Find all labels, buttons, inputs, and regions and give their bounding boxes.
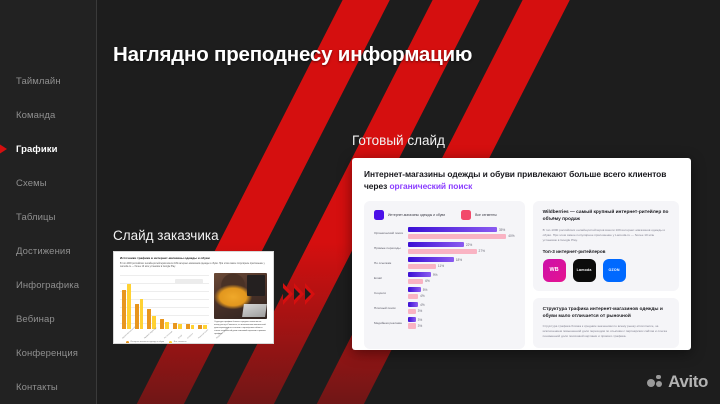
bar-fill [408, 302, 418, 307]
bar: 27% [408, 249, 515, 254]
legend-label: Все сегменты [475, 213, 497, 218]
sidebar-item-label: Контакты [16, 382, 58, 393]
bar-value-label: 9% [433, 273, 438, 277]
sidebar-item-8[interactable]: Конференция [0, 336, 96, 370]
triple-chevron-right-icon [283, 283, 315, 305]
bar-value-label: 4% [420, 303, 425, 307]
bar-value-label: 40% [508, 234, 514, 238]
bar [147, 309, 151, 329]
customer-slide-caption: Слайд заказчика [113, 228, 219, 243]
sidebar-item-label: Графики [16, 144, 58, 155]
ready-slide-title: Интернет-магазины одежды и обуви привлек… [364, 169, 679, 192]
bar-fill [408, 317, 416, 322]
bar-fill [408, 272, 431, 277]
bar [173, 323, 177, 329]
avito-wordmark: Avito [668, 372, 708, 392]
sidebar-item-label: Вебинар [16, 314, 55, 325]
bar-fill [408, 257, 454, 262]
x-tick-label: Прямые переходы [144, 327, 157, 339]
bar: 4% [408, 294, 515, 299]
bar: 3% [408, 323, 515, 328]
card-body: В топ-1000 российских онлайн-ритейлеров … [543, 228, 669, 243]
category-label: Органический поиск [374, 231, 404, 235]
chevron-right-icon [283, 283, 293, 305]
bar-group [198, 279, 207, 329]
retailer-logos: WBLamodaOZON [543, 259, 669, 282]
chart-row: Органический поиск35%40% [374, 227, 515, 239]
sidebar-item-label: Схемы [16, 178, 47, 189]
legend-swatch [461, 210, 471, 220]
chart-legend: Интернет-магазины одежды и обувиВсе сегм… [374, 210, 515, 220]
sidebar-item-0[interactable]: Таймлайн [0, 64, 96, 98]
bar [191, 325, 195, 328]
category-label: Соцсети [374, 291, 404, 295]
legend-swatch [169, 341, 172, 344]
chart-bar-groups [122, 279, 207, 329]
bar-value-label: 5% [423, 288, 428, 292]
bar-fill [408, 249, 477, 254]
ozon-logo: OZON [603, 259, 626, 282]
bar-fill [408, 287, 421, 292]
chart-row: По ссылкам18%11% [374, 257, 515, 269]
bar-value-label: 27% [479, 249, 485, 253]
chart-legend: Интернет-магазины одежды и обувиВсе сегм… [126, 341, 186, 344]
bar: 5% [408, 287, 515, 292]
sidebar-item-1[interactable]: Команда [0, 98, 96, 132]
bar [178, 324, 182, 328]
bar-group [135, 279, 144, 329]
card-heading: Структура трафика интернет-магазинов оде… [543, 307, 669, 321]
sidebar-item-label: Достижения [16, 246, 71, 257]
traffic-structure-card: Структура трафика интернет-магазинов оде… [533, 298, 679, 349]
bar [198, 325, 202, 328]
category-label: Платный поиск [374, 306, 404, 310]
bar [135, 304, 139, 328]
bar-fill [408, 242, 464, 247]
sidebar-item-9[interactable]: Контакты [0, 370, 96, 404]
legend-item: Все сегменты [169, 341, 186, 344]
legend-label: Все сегменты [174, 341, 187, 343]
bar: 4% [408, 302, 515, 307]
category-label: Прямые переходы [374, 246, 404, 250]
bar-value-label: 11% [438, 264, 444, 268]
legend-item: Интернет-магазины одежды и обуви [126, 341, 164, 344]
bar: 22% [408, 242, 515, 247]
bar-value-label: 3% [418, 318, 423, 322]
chart-row: Медийная реклама3%3% [374, 317, 515, 329]
category-label: Email [374, 276, 404, 280]
bar-value-label: 6% [425, 279, 430, 283]
bar [160, 319, 164, 329]
customer-slide-subtitle: В топ-1000 российских онлайн-ритейлеров … [120, 263, 267, 270]
bar: 18% [408, 257, 515, 262]
bar-value-label: 35% [499, 228, 505, 232]
x-tick-label: Соцсети [187, 333, 194, 339]
bar-group [173, 279, 182, 329]
legend-label: Интернет-магазины одежды и обуви [131, 341, 165, 343]
sidebar-item-label: Команда [16, 110, 55, 121]
bar-group [122, 279, 131, 329]
bar [140, 299, 144, 329]
legend-label: Интернет-магазины одежды и обуви [388, 213, 445, 218]
bar: 9% [408, 272, 515, 277]
bar: 40% [408, 234, 515, 239]
legend-swatch [374, 210, 384, 220]
sidebar-item-5[interactable]: Достижения [0, 234, 96, 268]
ready-slide-title-accent: органический поиск [389, 181, 472, 191]
wildberries-info-card: Wildberries — самый крупный интернет-рит… [533, 201, 679, 291]
legend-swatch [126, 341, 129, 344]
bar [186, 324, 190, 328]
bar: 3% [408, 309, 515, 314]
bar-group [160, 279, 169, 329]
bar-value-label: 18% [456, 258, 462, 262]
ready-slide-chart-card: Интернет-магазины одежды и обувиВсе сегм… [364, 201, 525, 349]
customer-slide-photo [214, 273, 267, 319]
bar-fill [408, 294, 418, 299]
customer-slide-title: Источники трафика в интернет-магазины од… [120, 257, 267, 261]
bar [122, 290, 126, 329]
sidebar-item-3[interactable]: Схемы [0, 166, 96, 200]
sidebar-item-4[interactable]: Таблицы [0, 200, 96, 234]
sidebar-item-label: Таймлайн [16, 76, 61, 87]
active-pointer-icon [0, 142, 7, 156]
x-tick-label: Платный поиск [198, 329, 209, 339]
card-heading: Wildberries — самый крупный интернет-рит… [543, 210, 669, 224]
bar-value-label: 22% [466, 243, 472, 247]
bar-value-label: 4% [420, 294, 425, 298]
avito-dot [647, 379, 655, 387]
bar-fill [408, 234, 506, 239]
bar-fill [408, 309, 416, 314]
chart-row: Соцсети5%4% [374, 287, 515, 299]
category-label: Медийная реклама [374, 321, 404, 325]
card-body: Структура трафика близка к средним значе… [543, 324, 669, 339]
bar-fill [408, 264, 436, 269]
bar-fill [408, 323, 416, 328]
ready-slide-caption: Готовый слайд [352, 133, 445, 148]
bar [127, 284, 131, 328]
bar: 35% [408, 227, 515, 232]
chevron-right-icon [305, 283, 315, 305]
avito-dot [656, 381, 662, 387]
sidebar-item-2[interactable]: Графики [0, 132, 96, 166]
legend-item: Интернет-магазины одежды и обуви [374, 210, 445, 220]
chart-row: Email9%6% [374, 272, 515, 284]
avito-logo: Avito [647, 372, 708, 392]
customer-slide[interactable]: Источники трафика в интернет-магазины од… [113, 251, 274, 344]
sidebar-item-label: Таблицы [16, 212, 56, 223]
wildberries-logo: WB [543, 259, 566, 282]
card-subheading: Топ-3 интернет-ритейлеров [543, 249, 669, 254]
bar [165, 322, 169, 329]
sidebar-item-7[interactable]: Вебинар [0, 302, 96, 336]
chart-row: Платный поиск4%3% [374, 302, 515, 314]
bar-group [186, 279, 195, 329]
bar: 11% [408, 264, 515, 269]
sidebar-item-label: Инфографика [16, 280, 79, 291]
bar-group [147, 279, 156, 329]
x-tick-label: Email [178, 334, 183, 339]
avito-dot [656, 375, 660, 379]
category-label: По ссылкам [374, 261, 404, 265]
page-title: Наглядно преподнесу информацию [113, 43, 472, 67]
page-root: ТаймлайнКомандаГрафикиСхемыТаблицыДостиж… [0, 0, 720, 404]
chart-row: Прямые переходы22%27% [374, 242, 515, 254]
bar: 6% [408, 279, 515, 284]
x-tick-label: По ссылкам [164, 330, 173, 339]
avito-mark-icon [647, 375, 664, 390]
sidebar-item-6[interactable]: Инфографика [0, 268, 96, 302]
chevron-right-icon [294, 283, 304, 305]
bar-value-label: 3% [418, 324, 423, 328]
customer-bar-chart: Органический поискПрямые переходыПо ссыл… [120, 273, 209, 343]
bar-fill [408, 227, 497, 232]
lamoda-logo: Lamoda [573, 259, 596, 282]
ready-slide[interactable]: Интернет-магазины одежды и обуви привлек… [352, 158, 691, 350]
bar: 3% [408, 317, 515, 322]
bar [203, 325, 207, 328]
bar-value-label: 3% [418, 309, 423, 313]
sidebar-item-label: Конференция [16, 348, 78, 359]
chart-x-labels: Органический поискПрямые переходыПо ссыл… [122, 338, 207, 340]
horizontal-bar-chart: Органический поиск35%40%Прямые переходы2… [374, 227, 515, 328]
sidebar: ТаймлайнКомандаГрафикиСхемыТаблицыДостиж… [0, 0, 97, 404]
legend-item: Все сегменты [461, 210, 497, 220]
bar-fill [408, 279, 423, 284]
